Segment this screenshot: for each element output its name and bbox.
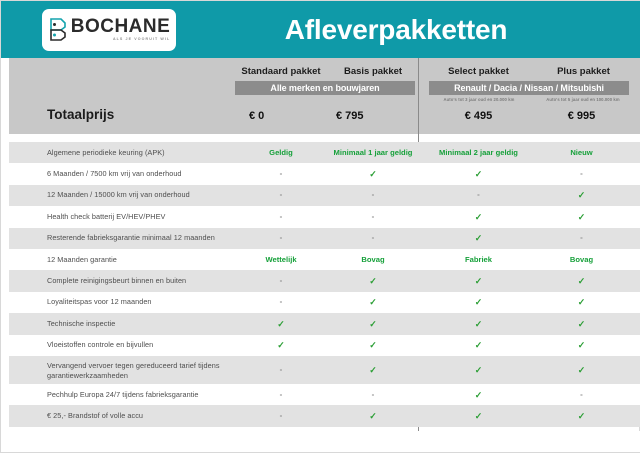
feature-value: - <box>231 297 331 307</box>
feature-value: ✓ <box>231 319 331 329</box>
group-pill-renault-group: Renault / Dacia / Nissan / Mitsubishi <box>429 81 629 95</box>
feature-value: - <box>328 190 418 200</box>
table-row: Vervangend vervoer tegen gereduceerd tar… <box>1 356 640 384</box>
feature-label: Loyaliteitspas voor 12 maanden <box>47 297 232 307</box>
feature-value: Bovag <box>328 255 418 265</box>
page-footer-space <box>1 431 640 452</box>
page-title-text: Afleverpakketten <box>285 14 507 46</box>
fineprint-select: Auto's tot 3 jaar oud en 20.000 km <box>429 97 529 102</box>
afleverpakketten-page: BOCHANE ALS JE VOORUIT WIL Afleverpakket… <box>0 0 640 453</box>
row-left-margin <box>1 405 9 426</box>
row-left-margin <box>1 228 9 249</box>
row-left-margin <box>1 313 9 334</box>
feature-label: Health check batterij EV/HEV/PHEV <box>47 212 232 222</box>
feature-value: - <box>231 233 331 243</box>
row-left-margin <box>1 335 9 356</box>
feature-value: ✓ <box>426 276 531 286</box>
feature-value: Bovag <box>534 255 629 265</box>
feature-value: - <box>534 390 629 400</box>
price-standaard: € 0 <box>231 110 331 122</box>
price-basis: € 795 <box>328 110 418 122</box>
package-heading-basis: Basis pakket <box>328 66 418 77</box>
row-left-margin <box>1 185 9 206</box>
totaalprijs-label: Totaalprijs <box>47 107 114 122</box>
table-row: Resterende fabrieksgarantie minimaal 12 … <box>1 228 640 249</box>
feature-value: ✓ <box>426 411 531 421</box>
feature-value: - <box>231 365 331 375</box>
feature-label: Pechhulp Europa 24/7 tijdens fabrieksgar… <box>47 390 232 400</box>
feature-value: ✓ <box>328 411 418 421</box>
feature-value: ✓ <box>426 169 531 179</box>
feature-value: - <box>328 212 418 222</box>
feature-value: ✓ <box>426 319 531 329</box>
feature-value: ✓ <box>328 319 418 329</box>
feature-value: ✓ <box>426 340 531 350</box>
package-heading-select: Select pakket <box>426 66 531 77</box>
row-left-margin <box>1 270 9 291</box>
feature-value: Wettelijk <box>231 255 331 265</box>
feature-value: - <box>534 169 629 179</box>
price-plus: € 995 <box>534 110 629 122</box>
bochane-logo[interactable]: BOCHANE ALS JE VOORUIT WIL <box>42 9 176 51</box>
row-left-margin <box>1 163 9 184</box>
bochane-logo-mark <box>48 17 67 43</box>
feature-value: ✓ <box>426 212 531 222</box>
features-table: Algemene periodieke keuring (APK)GeldigM… <box>1 142 640 427</box>
feature-value: ✓ <box>426 365 531 375</box>
package-heading-standaard: Standaard pakket <box>231 66 331 77</box>
feature-label: € 25,- Brandstof of volle accu <box>47 411 232 421</box>
feature-label: Technische inspectie <box>47 319 232 329</box>
feature-label: 12 Maanden garantie <box>47 255 232 265</box>
row-left-margin <box>1 206 9 227</box>
feature-value: Minimaal 1 jaar geldig <box>328 148 418 158</box>
feature-value: ✓ <box>534 276 629 286</box>
price-select: € 495 <box>426 110 531 122</box>
feature-value: ✓ <box>534 319 629 329</box>
band-bottom-gap <box>1 134 640 142</box>
feature-value: - <box>231 212 331 222</box>
feature-value: ✓ <box>328 276 418 286</box>
fineprint-plus: Auto's tot 5 jaar oud en 100.000 km <box>531 97 635 102</box>
row-left-margin <box>1 356 9 384</box>
table-row: Health check batterij EV/HEV/PHEV--✓✓ <box>1 206 640 227</box>
band-left-margin <box>1 58 9 134</box>
feature-value: ✓ <box>534 340 629 350</box>
feature-value: Minimaal 2 jaar geldig <box>426 148 531 158</box>
feature-value: Fabriek <box>426 255 531 265</box>
logo-tagline: ALS JE VOORUIT WIL <box>113 38 170 42</box>
feature-value: - <box>231 190 331 200</box>
package-heading-plus: Plus pakket <box>536 66 631 77</box>
feature-label: Resterende fabrieksgarantie minimaal 12 … <box>47 233 232 243</box>
feature-value: ✓ <box>231 340 331 350</box>
table-row: Loyaliteitspas voor 12 maanden-✓✓✓ <box>1 292 640 313</box>
feature-value: ✓ <box>534 297 629 307</box>
feature-value: ✓ <box>426 233 531 243</box>
feature-value: ✓ <box>534 365 629 375</box>
feature-value: ✓ <box>328 297 418 307</box>
feature-value: Geldig <box>231 148 331 158</box>
feature-label: Vloeistoffen controle en bijvullen <box>47 340 232 350</box>
feature-value: ✓ <box>534 411 629 421</box>
feature-value: ✓ <box>426 297 531 307</box>
table-row: 12 Maanden / 15000 km vrij van onderhoud… <box>1 185 640 206</box>
feature-label: 6 Maanden / 7500 km vrij van onderhoud <box>47 169 232 179</box>
feature-label: Vervangend vervoer tegen gereduceerd tar… <box>47 361 232 381</box>
feature-value: - <box>426 190 531 200</box>
feature-value: ✓ <box>328 365 418 375</box>
page-header: BOCHANE ALS JE VOORUIT WIL Afleverpakket… <box>1 1 640 58</box>
feature-value: ✓ <box>534 212 629 222</box>
table-row: € 25,- Brandstof of volle accu-✓✓✓ <box>1 405 640 426</box>
row-left-margin <box>1 384 9 405</box>
table-row: Pechhulp Europa 24/7 tijdens fabrieksgar… <box>1 384 640 405</box>
table-row: Technische inspectie✓✓✓✓ <box>1 313 640 334</box>
logo-wordmark: BOCHANE <box>71 17 171 36</box>
feature-value: - <box>231 411 331 421</box>
feature-label: Complete reinigingsbeurt binnen en buite… <box>47 276 232 286</box>
table-row: Algemene periodieke keuring (APK)GeldigM… <box>1 142 640 163</box>
feature-value: - <box>231 276 331 286</box>
table-row: 12 Maanden garantieWettelijkBovagFabriek… <box>1 249 640 270</box>
feature-value: - <box>231 390 331 400</box>
feature-value: ✓ <box>328 169 418 179</box>
table-row: Complete reinigingsbeurt binnen en buite… <box>1 270 640 291</box>
table-row: Vloeistoffen controle en bijvullen✓✓✓✓ <box>1 335 640 356</box>
group-pill-all-brands: Alle merken en bouwjaren <box>235 81 415 95</box>
feature-label: 12 Maanden / 15000 km vrij van onderhoud <box>47 190 232 200</box>
feature-label: Algemene periodieke keuring (APK) <box>47 148 232 158</box>
feature-value: ✓ <box>426 390 531 400</box>
row-left-margin <box>1 292 9 313</box>
row-left-margin <box>1 142 9 163</box>
feature-value: ✓ <box>328 340 418 350</box>
row-left-margin <box>1 249 9 270</box>
table-row: 6 Maanden / 7500 km vrij van onderhoud-✓… <box>1 163 640 184</box>
feature-value: Nieuw <box>534 148 629 158</box>
feature-value: - <box>328 390 418 400</box>
feature-value: - <box>231 169 331 179</box>
feature-value: ✓ <box>534 190 629 200</box>
feature-value: - <box>328 233 418 243</box>
feature-value: - <box>534 233 629 243</box>
